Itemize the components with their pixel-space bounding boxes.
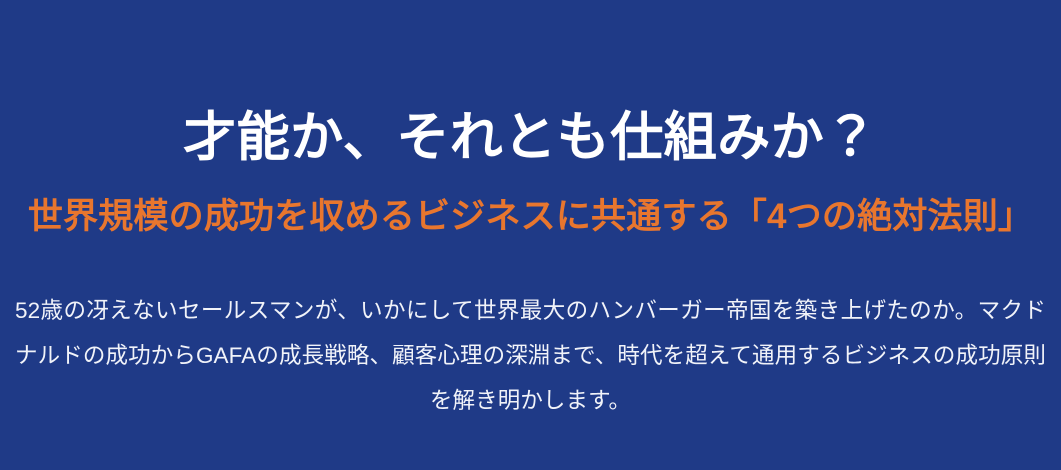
page-title: 才能か、それとも仕組みか？ <box>0 108 1061 167</box>
page-subtitle: 世界規模の成功を収めるビジネスに共通する「4つの絶対法則」 <box>0 196 1061 238</box>
hero-banner: 才能か、それとも仕組みか？ 世界規模の成功を収めるビジネスに共通する「4つの絶対… <box>0 0 1061 470</box>
lead-paragraph: 52歳の冴えないセールスマンが、いかにして世界最大のハンバーガー帝国を築き上げた… <box>15 288 1046 423</box>
